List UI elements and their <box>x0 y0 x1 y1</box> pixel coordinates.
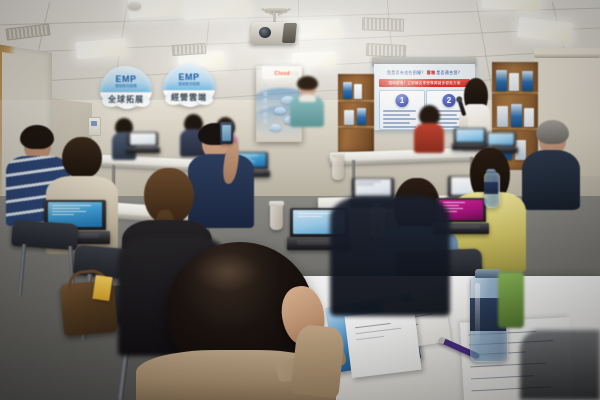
screen-text-lines <box>52 205 98 217</box>
brochure <box>522 71 533 91</box>
wall-switch-plate[interactable] <box>88 117 101 136</box>
smartphone[interactable] <box>220 122 233 144</box>
attendee-right-foreground <box>330 196 450 316</box>
laptop-screen <box>130 133 156 145</box>
bottle-highlight <box>475 283 480 342</box>
banner-logo: Cloud雲端 <box>274 71 299 77</box>
hair <box>297 76 318 90</box>
iced-coffee-cup <box>332 156 344 180</box>
decal-caption: 全球拓展 <box>100 96 152 104</box>
laptop-screen <box>488 133 514 145</box>
brochure <box>509 73 519 91</box>
wall-decal-1: EMP 雲端應用服務 全球拓展 <box>100 66 152 108</box>
decal-caption: 經營雲端 <box>163 94 215 102</box>
attendee-back-right <box>414 108 444 152</box>
projector-lens <box>259 27 271 38</box>
cup-lid <box>331 153 345 157</box>
hair <box>536 120 569 144</box>
paper-text-line <box>356 336 384 340</box>
banner-cloud-icon <box>274 107 286 114</box>
banner-brand-sub: 雲端 <box>290 71 299 76</box>
slide-number-badge: 2 <box>443 94 456 107</box>
torso <box>330 196 450 316</box>
paper-text-line <box>355 323 391 328</box>
iced-coffee-cup <box>270 204 283 230</box>
water-bottle <box>484 172 498 206</box>
arm <box>290 324 345 399</box>
banner-vertical-text: 雲端應用服務 <box>261 84 268 126</box>
ceiling-projector <box>243 8 305 46</box>
laptop-lid <box>128 132 158 146</box>
yellow-item-in-bag <box>92 275 112 301</box>
laptop-keyboard[interactable] <box>126 147 160 153</box>
shelf-board <box>492 92 538 95</box>
paper-text-line <box>356 328 402 335</box>
foreground-shadow <box>520 330 600 400</box>
blind-rod <box>534 54 600 58</box>
decal-subtitle: 雲端應用服務 <box>166 83 213 87</box>
laptop-row2-left[interactable] <box>128 132 158 153</box>
brochure <box>357 108 366 125</box>
collar <box>299 94 316 102</box>
laptop-lid <box>454 128 486 143</box>
bottle-label <box>484 182 498 194</box>
wooden-bookshelf-left <box>338 74 374 152</box>
banner-footer-strip <box>260 127 298 139</box>
handout-paper[interactable] <box>344 308 421 378</box>
laptop-back-right[interactable] <box>454 128 486 150</box>
bottle-cap <box>486 169 496 172</box>
attendee-grey-hair <box>522 122 580 208</box>
projector-rear <box>282 23 297 43</box>
decal-subtitle: 雲端應用服務 <box>103 85 150 89</box>
brochure <box>511 104 522 127</box>
brochure <box>344 110 354 125</box>
brochure <box>354 84 362 99</box>
shelf-board <box>338 126 374 129</box>
shelf-board <box>338 100 374 103</box>
banner-brand: Cloud <box>274 71 290 77</box>
attendee-teal-shirt <box>290 78 324 126</box>
hair-highlight <box>192 252 262 292</box>
classroom-photo: EMP 雲端應用服務 全球拓展 EMP 雲端應用服務 經營雲端 Cloud雲端 … <box>0 0 600 400</box>
brochure <box>497 106 508 127</box>
slide-headline-post: 是否適合您？ <box>436 70 462 76</box>
green-object <box>498 272 524 328</box>
attendee-foreground <box>136 242 336 400</box>
torso <box>522 150 580 210</box>
hair <box>62 137 102 177</box>
wall-decal-2: EMP 雲端應用服務 經營雲端 <box>163 64 215 106</box>
torso <box>414 123 444 153</box>
hair <box>419 105 440 125</box>
laptop-lid <box>486 132 516 146</box>
brochure <box>343 82 352 99</box>
cup-lid <box>269 201 284 206</box>
laptop-screen <box>456 129 484 142</box>
